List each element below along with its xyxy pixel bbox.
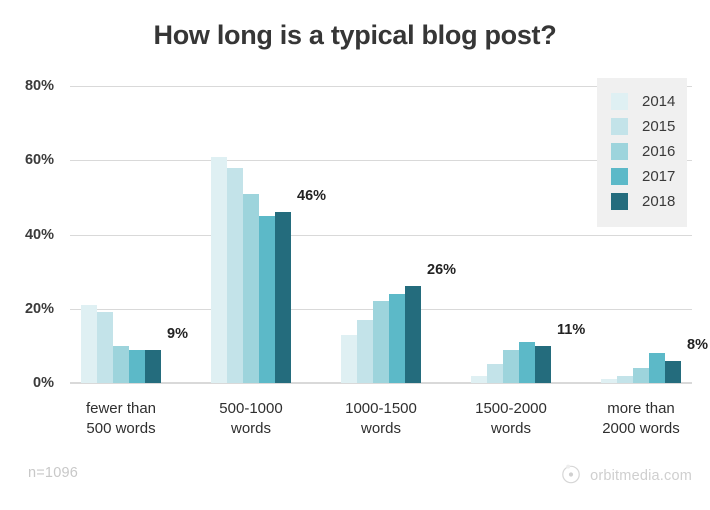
category-label-line: fewer than bbox=[56, 399, 186, 419]
bar-value-label: 26% bbox=[427, 262, 456, 278]
bar bbox=[601, 379, 617, 383]
bar-value-label: 9% bbox=[167, 326, 188, 342]
sample-size-note: n=1096 bbox=[28, 465, 78, 481]
bar bbox=[81, 305, 97, 383]
bar-value-label: 11% bbox=[557, 322, 585, 338]
bar bbox=[97, 312, 113, 383]
category-label-line: 500 words bbox=[56, 419, 186, 439]
legend-label: 2014 bbox=[642, 93, 675, 110]
bar bbox=[243, 194, 259, 383]
bar bbox=[471, 376, 487, 383]
legend-label: 2016 bbox=[642, 143, 675, 160]
x-axis-category-label: more than2000 words bbox=[576, 399, 706, 440]
brand-name: orbitmedia.com bbox=[590, 468, 692, 484]
x-axis-category-label: 1500-2000words bbox=[446, 399, 576, 440]
x-axis-category-label: 500-1000words bbox=[186, 399, 316, 440]
bar bbox=[649, 353, 665, 383]
legend-swatch-icon bbox=[611, 93, 628, 110]
bar bbox=[341, 335, 357, 383]
category-label-line: words bbox=[316, 419, 446, 439]
legend-label: 2018 bbox=[642, 193, 675, 210]
category-label-line: words bbox=[186, 419, 316, 439]
bar bbox=[275, 212, 291, 383]
y-axis-labels: 0%20%40%60%80% bbox=[0, 86, 62, 383]
category-label-line: words bbox=[446, 419, 576, 439]
chart-legend: 20142015201620172018 bbox=[597, 78, 687, 227]
legend-swatch-icon bbox=[611, 143, 628, 160]
bar bbox=[535, 346, 551, 383]
legend-swatch-icon bbox=[611, 118, 628, 135]
legend-item-2014[interactable]: 2014 bbox=[611, 92, 675, 110]
page-title: How long is a typical blog post? bbox=[0, 20, 710, 51]
y-axis-tick-label: 0% bbox=[33, 375, 54, 391]
bar bbox=[357, 320, 373, 383]
x-axis-category-label: 1000-1500words bbox=[316, 399, 446, 440]
legend-item-2015[interactable]: 2015 bbox=[611, 117, 675, 135]
y-axis-tick-label: 80% bbox=[25, 78, 54, 94]
bar bbox=[259, 216, 275, 383]
category-label-line: 500-1000 bbox=[186, 399, 316, 419]
bar bbox=[487, 364, 503, 383]
legend-label: 2015 bbox=[642, 118, 675, 135]
bar bbox=[405, 286, 421, 383]
category-label-line: 2000 words bbox=[576, 419, 706, 439]
bar bbox=[389, 294, 405, 383]
legend-swatch-icon bbox=[611, 168, 628, 185]
bar bbox=[665, 361, 681, 383]
category-label-line: 1000-1500 bbox=[316, 399, 446, 419]
bar bbox=[113, 346, 129, 383]
orbit-logo-icon bbox=[560, 463, 582, 490]
chart-container: How long is a typical blog post? 0%20%40… bbox=[0, 0, 710, 510]
category-label-line: 1500-2000 bbox=[446, 399, 576, 419]
category-label-line: more than bbox=[576, 399, 706, 419]
legend-item-2017[interactable]: 2017 bbox=[611, 167, 675, 185]
bar bbox=[145, 350, 161, 383]
bar bbox=[503, 350, 519, 383]
brand-watermark: orbitmedia.com bbox=[560, 462, 692, 490]
x-axis-category-label: fewer than500 words bbox=[56, 399, 186, 440]
legend-swatch-icon bbox=[611, 193, 628, 210]
bar bbox=[227, 168, 243, 383]
bar bbox=[617, 376, 633, 383]
gridline bbox=[70, 235, 692, 236]
bar bbox=[211, 157, 227, 383]
bar bbox=[633, 368, 649, 383]
legend-item-2016[interactable]: 2016 bbox=[611, 142, 675, 160]
y-axis-tick-label: 40% bbox=[25, 227, 54, 243]
legend-item-2018[interactable]: 2018 bbox=[611, 192, 675, 210]
bar-value-label: 8% bbox=[687, 337, 708, 353]
bar-value-label: 46% bbox=[297, 188, 326, 204]
bar bbox=[373, 301, 389, 383]
y-axis-tick-label: 20% bbox=[25, 301, 54, 317]
bar bbox=[129, 350, 145, 383]
legend-label: 2017 bbox=[642, 168, 675, 185]
y-axis-tick-label: 60% bbox=[25, 152, 54, 168]
bar bbox=[519, 342, 535, 383]
